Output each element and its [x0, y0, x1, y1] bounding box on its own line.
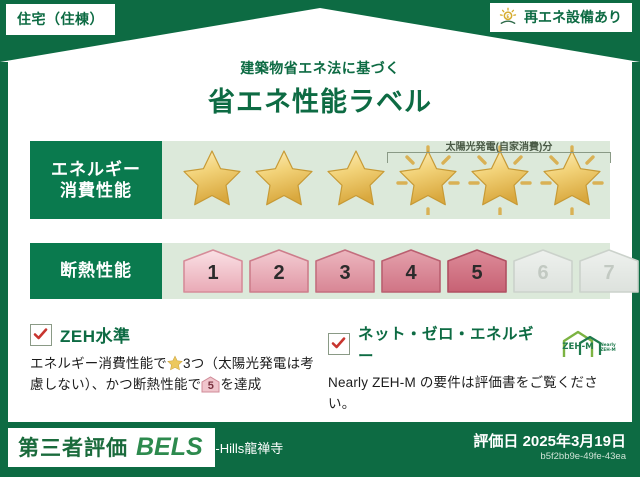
- zeh-desc-part3: を達成: [220, 377, 261, 392]
- net-zero-energy-description: Nearly ZEH-M の要件は評価書をご覧ください。: [328, 373, 618, 414]
- label-subtitle: 建築物省エネ法に基づく: [0, 58, 640, 78]
- insulation-grade-value: 4: [380, 262, 442, 285]
- insulation-grade-badge: 5: [446, 248, 508, 294]
- bels-jp-label: 第三者評価: [18, 432, 128, 462]
- insulation-grade-value: 6: [512, 262, 574, 285]
- star-icon: [178, 145, 246, 215]
- label-title: 省エネ性能ラベル: [0, 80, 640, 119]
- insulation-grade-badge: 3: [314, 248, 376, 294]
- insulation-grade-badge: 6: [512, 248, 574, 294]
- net-zero-energy-section: ネット・ゼロ・エネルギー ZEH-M Nearly ZEH-M Nearly Z…: [328, 322, 618, 414]
- bels-certification-badge: 第三者評価 BELS: [8, 428, 215, 467]
- net-zero-energy-checkbox[interactable]: [328, 333, 350, 355]
- svg-text:E: E: [506, 14, 509, 20]
- energy-row-label: エネルギー 消費性能: [30, 141, 162, 219]
- solar-generation-note: 太陽光発電(自家消費)分: [385, 138, 613, 153]
- star-icon: [322, 145, 390, 215]
- insulation-row-body: 1234567: [162, 243, 640, 299]
- check-icon: [33, 327, 48, 342]
- insulation-grade-badge: 4: [380, 248, 442, 294]
- net-zero-energy-header: ネット・ゼロ・エネルギー ZEH-M Nearly ZEH-M: [328, 322, 618, 366]
- check-icon: [331, 336, 346, 351]
- net-zero-energy-title: ネット・ゼロ・エネルギー: [358, 322, 548, 366]
- dwelling-type-tag: 住宅（住棟）: [6, 4, 115, 35]
- zeh-standard-checkbox[interactable]: [30, 324, 52, 346]
- insulation-performance-row: 断熱性能 1234567: [30, 243, 610, 299]
- zeh-standard-description: エネルギー消費性能で3つ（太陽光発電は考慮しない）、かつ断熱性能で5を達成: [30, 354, 320, 395]
- insulation-grade-value: 3: [314, 262, 376, 285]
- zeh-m-logo-sub2: ZEH-M: [600, 347, 615, 352]
- inline-badge-value: 5: [201, 378, 220, 395]
- star-filled: [250, 145, 318, 215]
- insulation-grade-value: 7: [578, 262, 640, 285]
- zeh-standard-section: ZEH水準 エネルギー消費性能で3つ（太陽光発電は考慮しない）、かつ断熱性能で5…: [30, 322, 320, 395]
- insulation-grade-value: 1: [182, 262, 244, 285]
- star-filled: [322, 145, 390, 215]
- building-name: D-Hills龍禅寺: [206, 438, 283, 457]
- zeh-m-logo-icon: ZEH-M Nearly ZEH-M: [560, 329, 618, 359]
- insulation-grade-scale: 1234567: [162, 248, 640, 294]
- solar-bracket: [387, 152, 611, 163]
- energy-row-label-line2: 消費性能: [60, 180, 132, 201]
- zeh-standard-header: ZEH水準: [30, 322, 320, 347]
- insulation-grade-value: 5: [446, 262, 508, 285]
- evaluation-id: b5f2bb9e-49fe-43ea: [540, 451, 626, 462]
- insulation-grade-badge: 1: [182, 248, 244, 294]
- star-icon: [167, 355, 183, 371]
- insulation-grade-badge: 2: [248, 248, 310, 294]
- bels-en-label: BELS: [136, 433, 203, 462]
- evaluation-date: 評価日 2025年3月19日: [473, 430, 626, 451]
- energy-row-label-line1: エネルギー: [51, 159, 141, 180]
- insulation-grade-value: 2: [248, 262, 310, 285]
- star-filled: [178, 145, 246, 215]
- renewable-equipment-label: 再エネ設備あり: [524, 7, 622, 27]
- insulation-row-label-line1: 断熱性能: [60, 260, 132, 281]
- renewable-equipment-tag: E 再エネ設備あり: [490, 3, 632, 32]
- star-icon: [250, 145, 318, 215]
- insulation-row-label: 断熱性能: [30, 243, 162, 299]
- zeh-m-logo-text: ZEH-M: [562, 342, 593, 352]
- energy-performance-label: 住宅（住棟） E 再エネ設備あり 建築物省エネ法に基づく 省エネ性能ラベル 太陽…: [0, 0, 640, 477]
- label-footer: 第三者評価 BELS D-Hills龍禅寺 評価日 2025年3月19日 b5f…: [0, 424, 640, 477]
- zeh-standard-title: ZEH水準: [60, 322, 131, 347]
- zeh-desc-part1: エネルギー消費性能で: [30, 356, 167, 371]
- zeh-desc-star-count: 3つ（太陽光発電: [183, 356, 287, 371]
- sun-icon: E: [498, 7, 518, 27]
- insulation-grade-inline-badge: 5: [201, 376, 220, 393]
- insulation-grade-badge: 7: [578, 248, 640, 294]
